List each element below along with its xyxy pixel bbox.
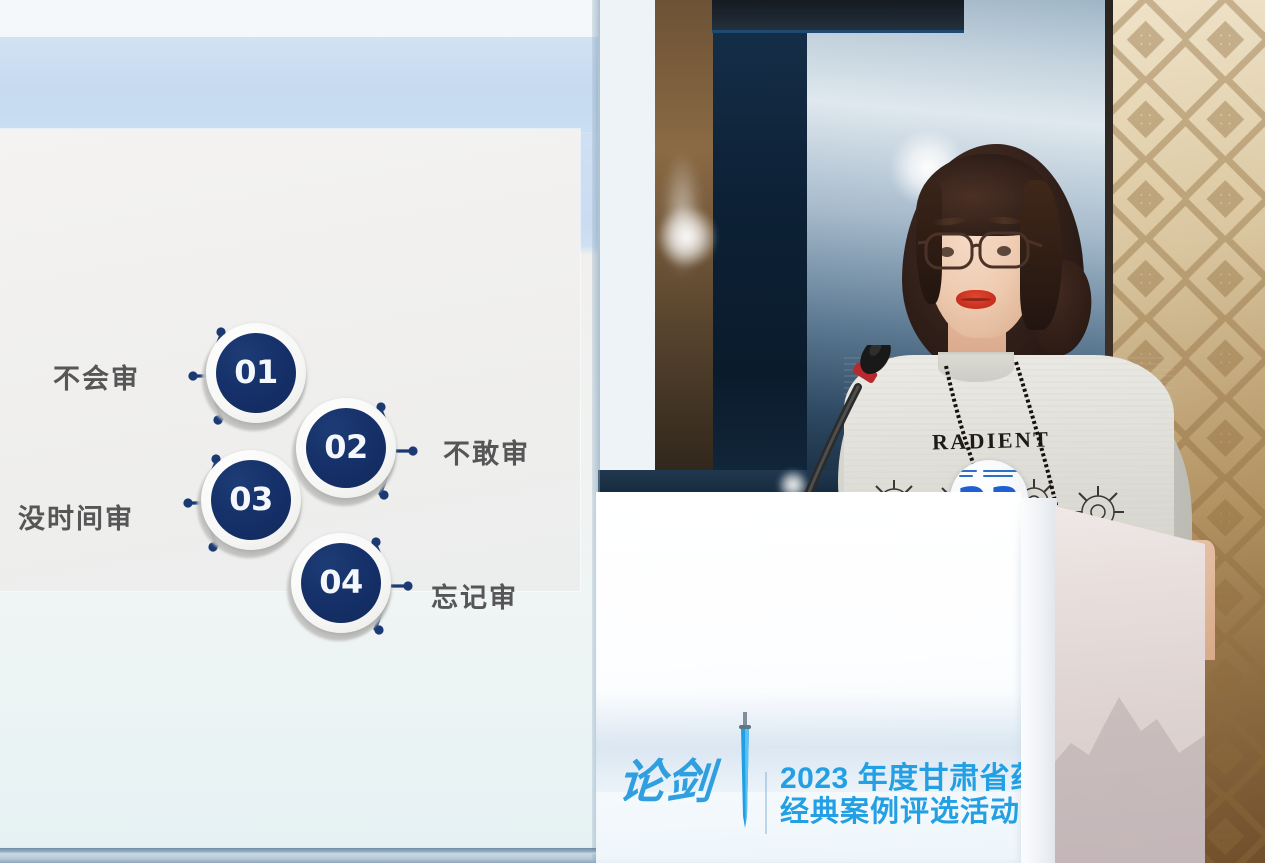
screen-bottom-edge xyxy=(0,848,620,854)
slide-node-04: 04 xyxy=(281,529,405,653)
podium-side-panel xyxy=(1055,506,1205,863)
node-number: 03 xyxy=(229,483,273,515)
ceiling-light-reflection-1 xyxy=(658,205,716,269)
door-header-bar xyxy=(712,0,964,33)
presentation-slide: 01 不会审 02 不敢审 xyxy=(0,129,580,591)
event-logo: 论剑 2023 年度甘肃省药学服务 经典案例评选活动 xyxy=(618,760,714,807)
podium: 论剑 2023 年度甘肃省药学服务 经典案例评选活动 xyxy=(596,492,1265,863)
podium-top-highlight xyxy=(596,492,1021,562)
podium-bevel-edge xyxy=(1021,498,1057,863)
slide-label-03: 没时间审 xyxy=(18,497,134,536)
slide-label-04: 忘记审 xyxy=(431,576,518,615)
slide-label-01: 不会审 xyxy=(53,357,140,396)
event-logo-mark: 论剑 xyxy=(616,760,715,807)
mountain-graphic xyxy=(1055,623,1205,863)
node-disc: 04 xyxy=(301,543,381,623)
node-disc: 03 xyxy=(211,460,291,540)
podium-front-panel: 论剑 2023 年度甘肃省药学服务 经典案例评选活动 xyxy=(596,492,1021,863)
slide-label-02: 不敢审 xyxy=(443,432,530,471)
node-disc: 02 xyxy=(306,408,386,488)
logo-divider xyxy=(765,772,767,834)
node-number: 01 xyxy=(234,356,278,388)
node-number: 04 xyxy=(319,566,363,598)
screenshot-root: 01 不会审 02 不敢审 xyxy=(0,0,1265,863)
node-number: 02 xyxy=(324,431,368,463)
screen-blue-band xyxy=(0,37,598,132)
node-disc: 01 xyxy=(216,333,296,413)
sword-icon xyxy=(733,712,759,832)
